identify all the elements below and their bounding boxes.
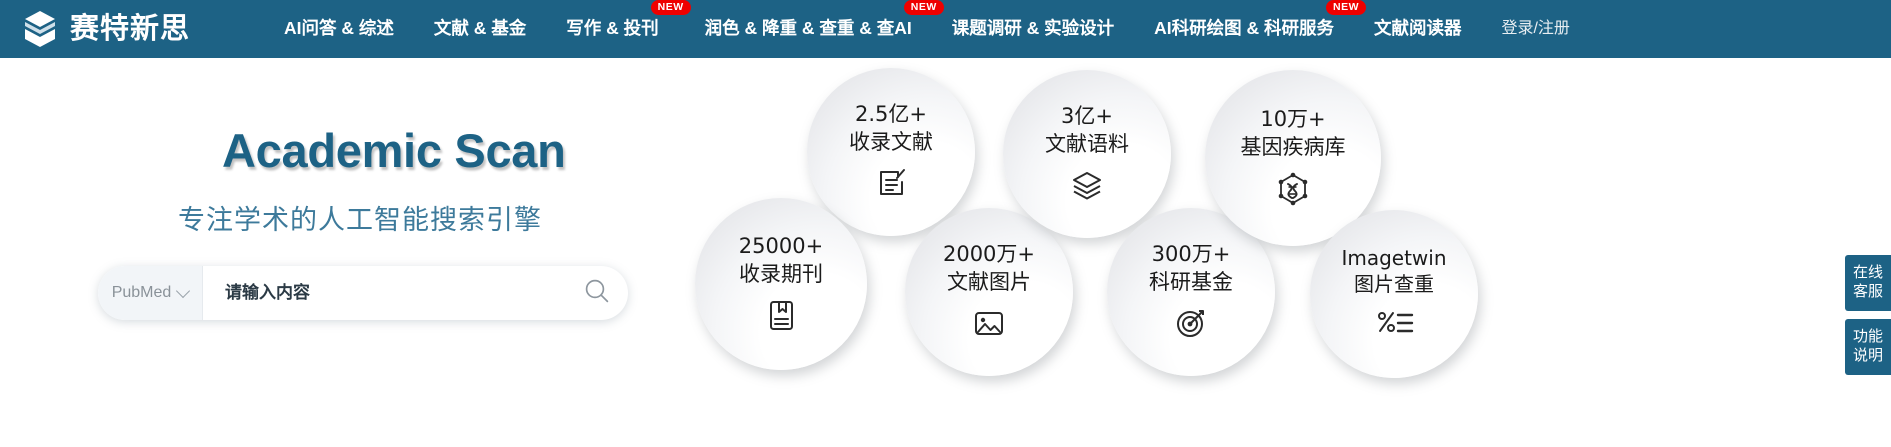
new-badge: NEW — [1326, 0, 1366, 15]
gene-cube-icon — [1272, 168, 1314, 210]
nav-item-writing-submission[interactable]: 写作 & 投刊 NEW — [564, 16, 660, 42]
cube-logo-icon — [22, 9, 58, 49]
percent-lines-icon — [1372, 304, 1416, 344]
nav-item-polish-check[interactable]: 润色 & 降重 & 查重 & 查AI NEW — [703, 16, 914, 42]
login-register-link[interactable]: 登录/注册 — [1499, 17, 1571, 41]
document-edit-icon — [871, 163, 911, 203]
page-title: Academic Scan — [222, 123, 566, 178]
stat-value: 300万+ — [1152, 241, 1231, 268]
new-badge: NEW — [904, 0, 944, 15]
search-source-label: PubMed — [112, 285, 172, 301]
stat-value: 25000+ — [739, 233, 823, 260]
page-subtitle: 专注学术的人工智能搜索引擎 — [178, 198, 542, 237]
chevron-down-icon — [176, 283, 190, 297]
search-bar: PubMed — [98, 266, 628, 320]
side-btn-line2: 说明 — [1853, 347, 1883, 366]
stat-bubble-documents[interactable]: 2.5亿+ 收录文献 — [807, 68, 975, 236]
stat-bubble-imagetwin[interactable]: Imagetwin 图片查重 — [1310, 210, 1478, 378]
nav-label: 文献 & 基金 — [434, 18, 526, 38]
stat-value: 10万+ — [1260, 106, 1325, 133]
search-input[interactable] — [203, 266, 566, 320]
layers-stack-icon — [1067, 165, 1107, 205]
new-badge: NEW — [651, 0, 691, 15]
image-picture-icon — [969, 303, 1009, 343]
stat-label: 收录期刊 — [739, 261, 823, 288]
brand-logo[interactable]: 赛特新思 — [22, 9, 190, 49]
nav-label: 课题调研 & 实验设计 — [952, 18, 1114, 38]
brand-name: 赛特新思 — [70, 15, 190, 44]
book-bookmark-icon — [761, 295, 801, 335]
stat-label: 收录文献 — [849, 129, 933, 156]
nav-item-ai-drawing-service[interactable]: AI科研绘图 & 科研服务 NEW — [1152, 16, 1336, 42]
nav-item-research-design[interactable]: 课题调研 & 实验设计 — [950, 16, 1116, 42]
nav-label: 文献阅读器 — [1374, 18, 1462, 38]
side-btn-line1: 在线 — [1853, 264, 1883, 283]
nav-label: AI科研绘图 & 科研服务 — [1154, 18, 1334, 38]
target-dart-icon — [1171, 303, 1211, 343]
site-header: 赛特新思 AI问答 & 综述 文献 & 基金 写作 & 投刊 NEW 润色 & … — [0, 0, 1891, 58]
feature-help-button[interactable]: 功能 说明 — [1845, 319, 1891, 375]
stat-value: Imagetwin — [1341, 245, 1446, 271]
stat-label: 文献语料 — [1045, 131, 1129, 158]
nav-label: 润色 & 降重 & 查重 & 查AI — [705, 18, 912, 38]
nav-item-ai-qa[interactable]: AI问答 & 综述 — [282, 16, 396, 42]
stat-label: 图片查重 — [1354, 271, 1434, 297]
search-icon — [583, 277, 611, 310]
page-root: 赛特新思 AI问答 & 综述 文献 & 基金 写作 & 投刊 NEW 润色 & … — [0, 0, 1891, 447]
search-source-select[interactable]: PubMed — [98, 266, 202, 320]
nav-item-reader[interactable]: 文献阅读器 — [1372, 16, 1464, 42]
nav-item-literature-fund[interactable]: 文献 & 基金 — [432, 16, 528, 42]
nav-label: 写作 & 投刊 — [566, 18, 658, 38]
search-button[interactable] — [566, 266, 628, 320]
side-btn-line1: 功能 — [1853, 328, 1883, 347]
stat-value: 2.5亿+ — [855, 101, 927, 128]
login-register-label: 登录/注册 — [1501, 20, 1569, 37]
main-nav: AI问答 & 综述 文献 & 基金 写作 & 投刊 NEW 润色 & 降重 & … — [282, 0, 1572, 58]
stats-bubbles: 2.5亿+ 收录文献 25000+ 收录期刊 — [660, 58, 1891, 447]
side-btn-line2: 客服 — [1853, 283, 1883, 302]
online-service-button[interactable]: 在线 客服 — [1845, 255, 1891, 311]
stat-label: 文献图片 — [947, 269, 1031, 296]
stat-value: 3亿+ — [1061, 103, 1113, 130]
stat-label: 基因疾病库 — [1241, 134, 1346, 161]
stat-label: 科研基金 — [1149, 269, 1233, 296]
stat-bubble-corpus[interactable]: 3亿+ 文献语料 — [1003, 70, 1171, 238]
hero-section: Academic Scan 专注学术的人工智能搜索引擎 PubMed — [0, 58, 700, 447]
stat-bubble-figures[interactable]: 2000万+ 文献图片 — [905, 208, 1073, 376]
side-button-rail: 在线 客服 功能 说明 — [1845, 255, 1891, 383]
stat-value: 2000万+ — [943, 241, 1035, 268]
nav-label: AI问答 & 综述 — [284, 18, 394, 38]
stat-bubble-journals[interactable]: 25000+ 收录期刊 — [695, 198, 867, 370]
